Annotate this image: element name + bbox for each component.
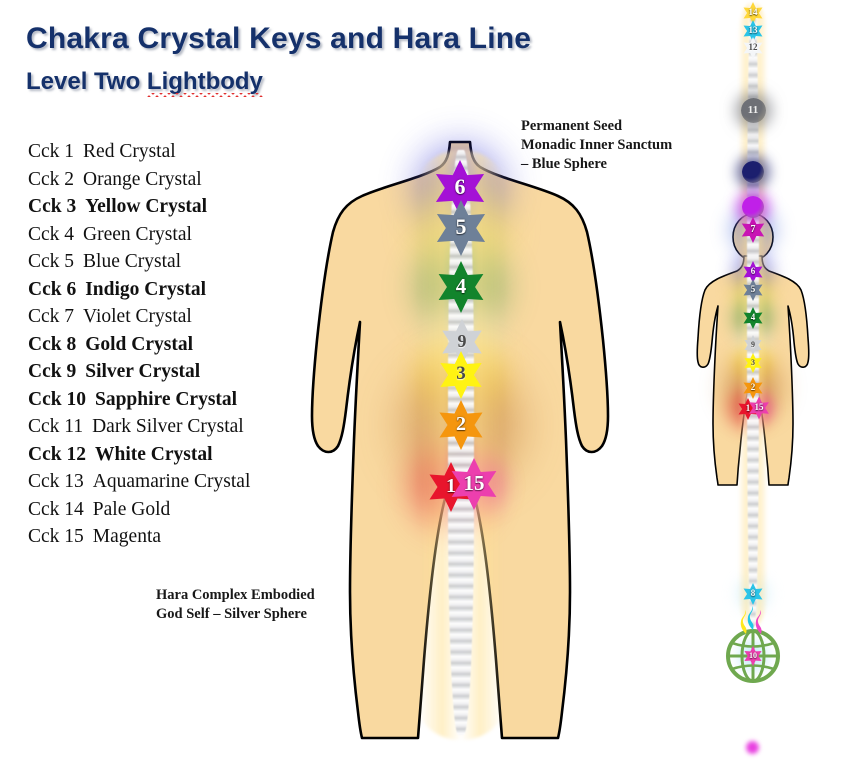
chakra-number: 6 [455,174,466,200]
chakra-number: 15 [464,471,485,496]
crystal-key-id: Cck 1 [28,141,74,162]
crystal-key-id: Cck 8 [28,334,76,355]
annotation-line: Permanent Seed [521,117,672,136]
crystal-key-id: Cck 9 [28,361,76,382]
sphere-number: 11 [748,104,758,116]
crystal-key-id: Cck 5 [28,251,74,272]
crystal-key-name: Sapphire Crystal [95,389,237,410]
crystal-key-name: Pale Gold [93,499,170,520]
page-title: Chakra Crystal Keys and Hara Line [26,22,531,56]
small-sphere-dark-silver-11[interactable]: 11 [741,98,766,123]
flame-svg [754,610,766,634]
small-sphere-blue-sphere[interactable] [742,161,764,183]
diagram-canvas: Chakra Crystal Keys and Hara Line Level … [0,0,850,761]
annotation-line: Hara Complex Embodied [156,586,315,605]
chakra-number: 7 [751,224,756,235]
subtitle-prefix: Level Two [26,68,147,95]
crystal-key-name: White Crystal [95,444,213,465]
chakra-number: 2 [456,413,466,436]
chakra-number: 6 [751,266,756,276]
crystal-key-id: Cck 14 [28,499,84,520]
chakra-number: 3 [751,358,755,367]
small-sphere-purple-sphere[interactable] [742,196,764,218]
chakra-number: 5 [456,214,467,240]
chakra-number: 9 [458,331,467,352]
chakra-number: 12 [749,42,758,52]
annotation-line: God Self – Silver Sphere [156,605,315,624]
subtitle-misspelled-word: Lightbody [147,68,263,95]
chakra-number: 4 [456,274,467,299]
chakra-number: 2 [751,382,756,392]
crystal-key-name: Magenta [93,526,161,547]
crystal-key-name: Gold Crystal [85,334,193,355]
crystal-key-id: Cck 6 [28,279,76,300]
crystal-key-id: Cck 15 [28,526,84,547]
crystal-key-name: Green Crystal [83,224,192,245]
crystal-key-name: Silver Crystal [85,361,200,382]
bottom-magenta-sphere [745,740,760,755]
crystal-key-name: Aquamarine Crystal [93,471,251,492]
chakra-number: 5 [751,284,756,294]
annotation-hara-complex: Hara Complex Embodied God Self – Silver … [156,586,315,624]
flame-icon [754,610,766,639]
crystal-key-name: Indigo Crystal [85,279,206,300]
crystal-key-name: Dark Silver Crystal [92,416,244,437]
crystal-key-name: Blue Crystal [83,251,181,272]
crystal-key-id: Cck 3 [28,196,76,217]
chakra-number: 10 [749,651,757,660]
crystal-key-name: Orange Crystal [83,169,202,190]
crystal-key-id: Cck 13 [28,471,84,492]
crystal-key-name: Violet Crystal [83,306,192,327]
page-subtitle: Level Two Lightbody [26,68,263,96]
crystal-key-id: Cck 10 [28,389,86,410]
chakra-number: 1 [746,403,751,413]
crystal-key-id: Cck 4 [28,224,74,245]
crystal-key-id: Cck 2 [28,169,74,190]
crystal-key-id: Cck 11 [28,416,83,437]
chakra-number: 15 [755,402,764,412]
chakra-number: 8 [751,588,756,598]
crystal-key-name: Red Crystal [83,141,176,162]
crystal-key-id: Cck 12 [28,444,86,465]
crystal-key-id: Cck 7 [28,306,74,327]
crystal-key-name: Yellow Crystal [85,196,207,217]
chakra-number: 4 [751,312,756,322]
chakra-number: 3 [456,363,466,385]
chakra-number: 13 [749,25,758,35]
chakra-number: 14 [749,7,758,17]
chakra-number: 9 [751,340,755,349]
